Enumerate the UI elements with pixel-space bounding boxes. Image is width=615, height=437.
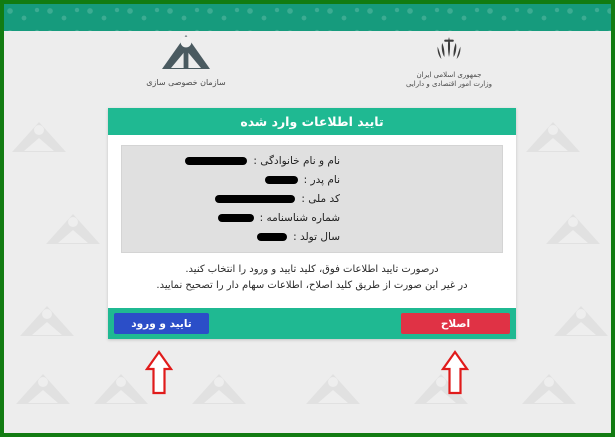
redacted-value-birth-certificate-number — [218, 214, 254, 222]
instruction-line-2: در غیر این صورت از طریق کلید اصلاح، اطلا… — [127, 278, 497, 294]
info-label-full-name: نام و نام خانوادگی : — [253, 155, 340, 167]
user-info-box: نام و نام خانوادگی : نام پدر : کد ملی : — [121, 145, 503, 253]
ministry-logo-caption-line1: جمهوری اسلامی ایران — [379, 71, 519, 80]
top-banner — [4, 4, 611, 31]
watermark-logo-icon — [544, 212, 602, 246]
info-row-birth-certificate-number: شماره شناسنامه : — [122, 212, 502, 224]
banner-pattern — [4, 4, 611, 31]
watermark-logo-icon — [14, 372, 72, 406]
watermark-logo-icon — [44, 212, 102, 246]
watermark-logo-icon — [18, 304, 76, 338]
app-window: سازمان خصوصی سازی جمهوری اسلامی ایران وز… — [0, 0, 615, 437]
privatization-organization-logo-block: سازمان خصوصی سازی — [126, 33, 246, 88]
redacted-value-national-id — [215, 195, 295, 203]
arrow-pointing-to-confirm-button — [441, 350, 469, 396]
correct-button[interactable]: اصلاح — [401, 313, 510, 334]
watermark-logo-icon — [520, 372, 578, 406]
redacted-value-full-name — [185, 157, 247, 165]
privatization-organization-logo-caption: سازمان خصوصی سازی — [126, 77, 246, 88]
redacted-value-birth-year — [257, 233, 287, 241]
instruction-line-1: درصورت تایید اطلاعات فوق، کلید تایید و و… — [127, 262, 497, 278]
watermark-logo-icon — [92, 372, 150, 406]
ministry-logo-caption-line2: وزارت امور اقتصادی و دارایی — [379, 80, 519, 89]
page-header: سازمان خصوصی سازی جمهوری اسلامی ایران وز… — [4, 31, 611, 103]
watermark-logo-icon — [304, 372, 362, 406]
watermark-logo-icon — [10, 120, 68, 154]
info-row-birth-year: سال تولد : — [122, 231, 502, 243]
ministry-logo-block: جمهوری اسلامی ایران وزارت امور اقتصادی و… — [379, 33, 519, 89]
watermark-logo-icon — [190, 372, 248, 406]
arrow-pointing-to-correct-button — [145, 350, 173, 396]
info-label-national-id: کد ملی : — [301, 193, 340, 205]
dialog-footer: اصلاح تایید و ورود — [108, 308, 516, 339]
confirmation-dialog: تایید اطلاعات وارد شده نام و نام خانوادگ… — [108, 108, 516, 339]
info-row-national-id: کد ملی : — [122, 193, 502, 205]
dialog-title-bar: تایید اطلاعات وارد شده — [108, 108, 516, 135]
redacted-value-father-name — [265, 176, 298, 184]
info-row-full-name: نام و نام خانوادگی : — [122, 155, 502, 167]
iran-emblem-icon — [434, 33, 464, 67]
dialog-title: تایید اطلاعات وارد شده — [240, 114, 383, 129]
info-label-birth-certificate-number: شماره شناسنامه : — [260, 212, 340, 224]
instruction-text: درصورت تایید اطلاعات فوق، کلید تایید و و… — [121, 253, 503, 302]
watermark-logo-icon — [524, 120, 582, 154]
info-label-birth-year: سال تولد : — [293, 231, 340, 243]
info-row-father-name: نام پدر : — [122, 174, 502, 186]
confirm-and-login-button[interactable]: تایید و ورود — [114, 313, 209, 334]
info-label-father-name: نام پدر : — [304, 174, 340, 186]
privatization-organization-logo-icon — [159, 33, 213, 73]
dialog-body: نام و نام خانوادگی : نام پدر : کد ملی : — [108, 135, 516, 308]
watermark-logo-icon — [552, 304, 610, 338]
